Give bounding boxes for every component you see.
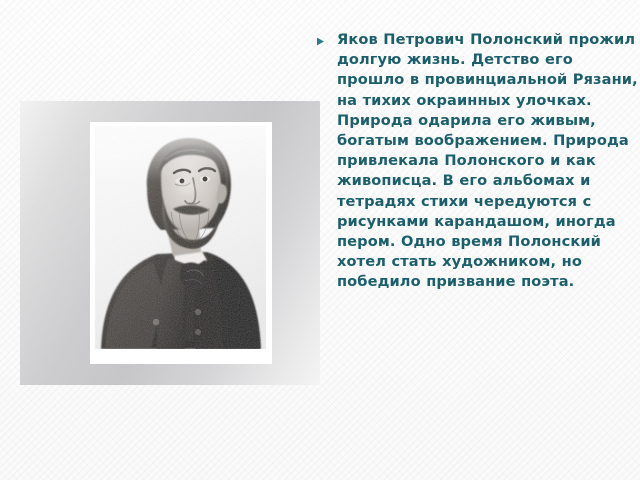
portrait-frame	[20, 101, 320, 385]
slide-canvas: Яков Петрович Полонский прожил долгую жи…	[0, 0, 640, 480]
bulleted-text-block: Яков Петрович Полонский прожил долгую жи…	[316, 30, 638, 293]
portrait-yakov-polonsky-image	[95, 126, 266, 349]
triangle-right-bullet-icon	[316, 30, 337, 46]
body-paragraph: Яков Петрович Полонский прожил долгую жи…	[337, 30, 638, 293]
portrait-mat	[90, 122, 272, 364]
